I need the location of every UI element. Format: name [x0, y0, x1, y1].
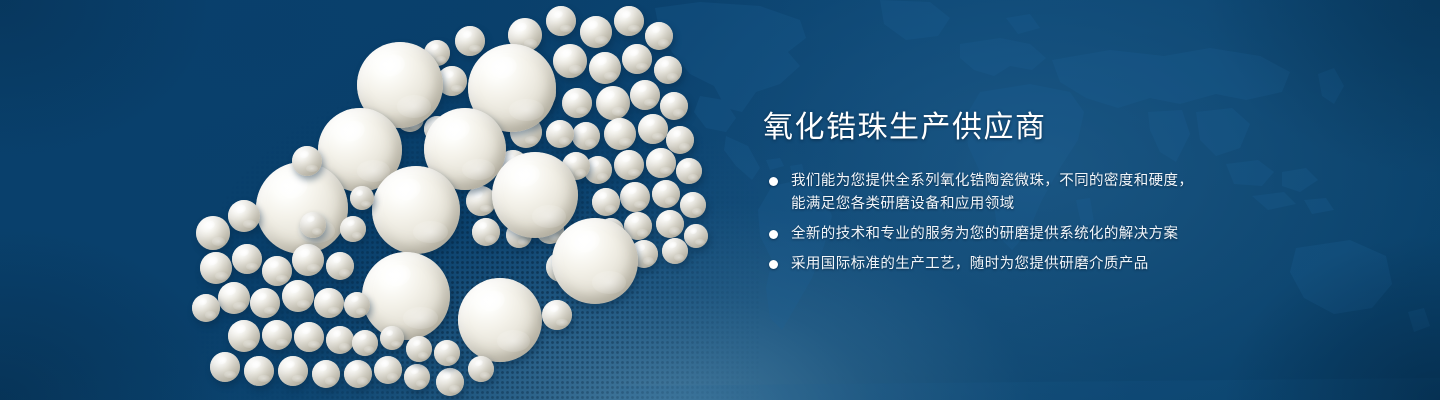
halftone-dot-texture — [60, 0, 760, 400]
bullet-dot-icon — [769, 177, 778, 186]
bullet-dot-icon — [769, 260, 778, 269]
list-item-label: 采用国际标准的生产工艺，随时为您提供研磨介质产品 — [791, 256, 1149, 272]
list-item: 我们能为您提供全系列氧化锆陶瓷微珠，不同的密度和硬度，能满足您各类研磨设备和应用… — [763, 170, 1195, 216]
zirconia-bead-cluster-image — [0, 0, 780, 400]
hero-banner: 氧化锆珠生产供应商 我们能为您提供全系列氧化锆陶瓷微珠，不同的密度和硬度，能满足… — [0, 0, 1440, 400]
list-item-label: 我们能为您提供全系列氧化锆陶瓷微珠，不同的密度和硬度，能满足您各类研磨设备和应用… — [791, 173, 1193, 212]
page-title: 氧化锆珠生产供应商 — [763, 108, 1233, 148]
feature-bullet-list: 我们能为您提供全系列氧化锆陶瓷微珠，不同的密度和硬度，能满足您各类研磨设备和应用… — [763, 170, 1233, 276]
list-item: 全新的技术和专业的服务为您的研磨提供系统化的解决方案 — [763, 223, 1195, 246]
banner-content: 氧化锆珠生产供应商 我们能为您提供全系列氧化锆陶瓷微珠，不同的密度和硬度，能满足… — [763, 108, 1233, 276]
bullet-dot-icon — [769, 230, 778, 239]
list-item: 采用国际标准的生产工艺，随时为您提供研磨介质产品 — [763, 253, 1195, 276]
list-item-label: 全新的技术和专业的服务为您的研磨提供系统化的解决方案 — [791, 226, 1178, 242]
